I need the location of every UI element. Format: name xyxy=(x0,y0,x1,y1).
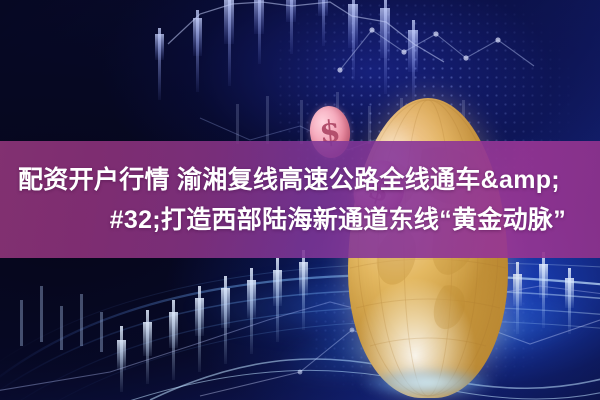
headline-line-2: #32;打造西部陆海新通道东线“黄金动脉” xyxy=(12,200,588,240)
banner-image: $ $ 配资开户行情 渝湘复线高速公路全线通车&amp; #32;打造西部陆海新… xyxy=(0,0,600,400)
globe-base-glow xyxy=(332,364,524,400)
headline-line-1: 配资开户行情 渝湘复线高速公路全线通车&amp; xyxy=(12,160,588,200)
headline-text-block: 配资开户行情 渝湘复线高速公路全线通车&amp; #32;打造西部陆海新通道东线… xyxy=(0,141,600,258)
